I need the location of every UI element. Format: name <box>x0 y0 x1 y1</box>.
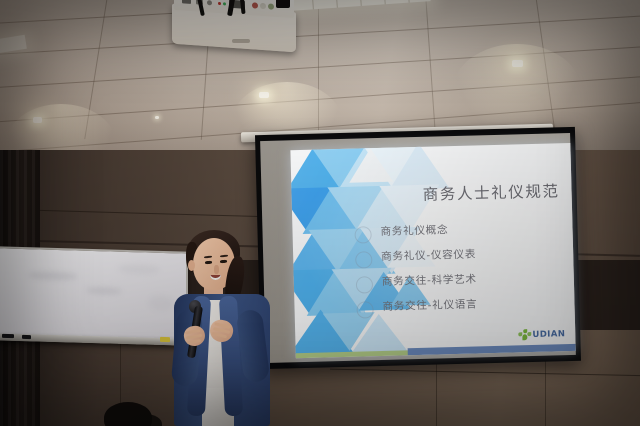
classroom-photo: 商务人士礼仪规范 商务礼仪概念 商务礼仪-仪容仪表 商务交往-科学艺术 <box>0 0 640 426</box>
ceiling-mounted-projector <box>172 8 298 66</box>
bullet-circle-icon <box>356 276 373 293</box>
brand-logo: UDIAN <box>518 328 565 340</box>
list-item: 商务交往-礼仪语言 <box>350 294 561 324</box>
leaf-icon <box>518 329 531 340</box>
whiteboard-marker[interactable] <box>22 335 31 339</box>
screen-surface: 商务人士礼仪规范 商务礼仪概念 商务礼仪-仪容仪表 商务交往-科学艺术 <box>260 133 576 363</box>
triangle-mosaic <box>290 143 570 150</box>
bullet-label: 商务交往-科学艺术 <box>382 271 477 288</box>
whiteboard-marker[interactable] <box>2 334 14 338</box>
projected-slide: 商务人士礼仪规范 商务礼仪概念 商务礼仪-仪容仪表 商务交往-科学艺术 <box>290 143 575 358</box>
bullet-circle-icon <box>354 226 371 243</box>
bullet-label: 商务礼仪概念 <box>380 222 448 239</box>
slide-title: 商务人士礼仪规范 <box>422 179 559 205</box>
presenter <box>160 228 284 426</box>
slide-bullet-list: 商务礼仪概念 商务礼仪-仪容仪表 商务交往-科学艺术 商务交往-礼仪语言 <box>348 219 561 324</box>
bullet-circle-icon <box>355 251 372 268</box>
bullet-circle-icon <box>356 301 373 318</box>
logo-text: UDIAN <box>532 329 565 340</box>
bullet-label: 商务礼仪-仪容仪表 <box>381 246 476 263</box>
bullet-label: 商务交往-礼仪语言 <box>382 296 477 313</box>
projection-screen: 商务人士礼仪规范 商务礼仪概念 商务礼仪-仪容仪表 商务交往-科学艺术 <box>255 127 581 369</box>
